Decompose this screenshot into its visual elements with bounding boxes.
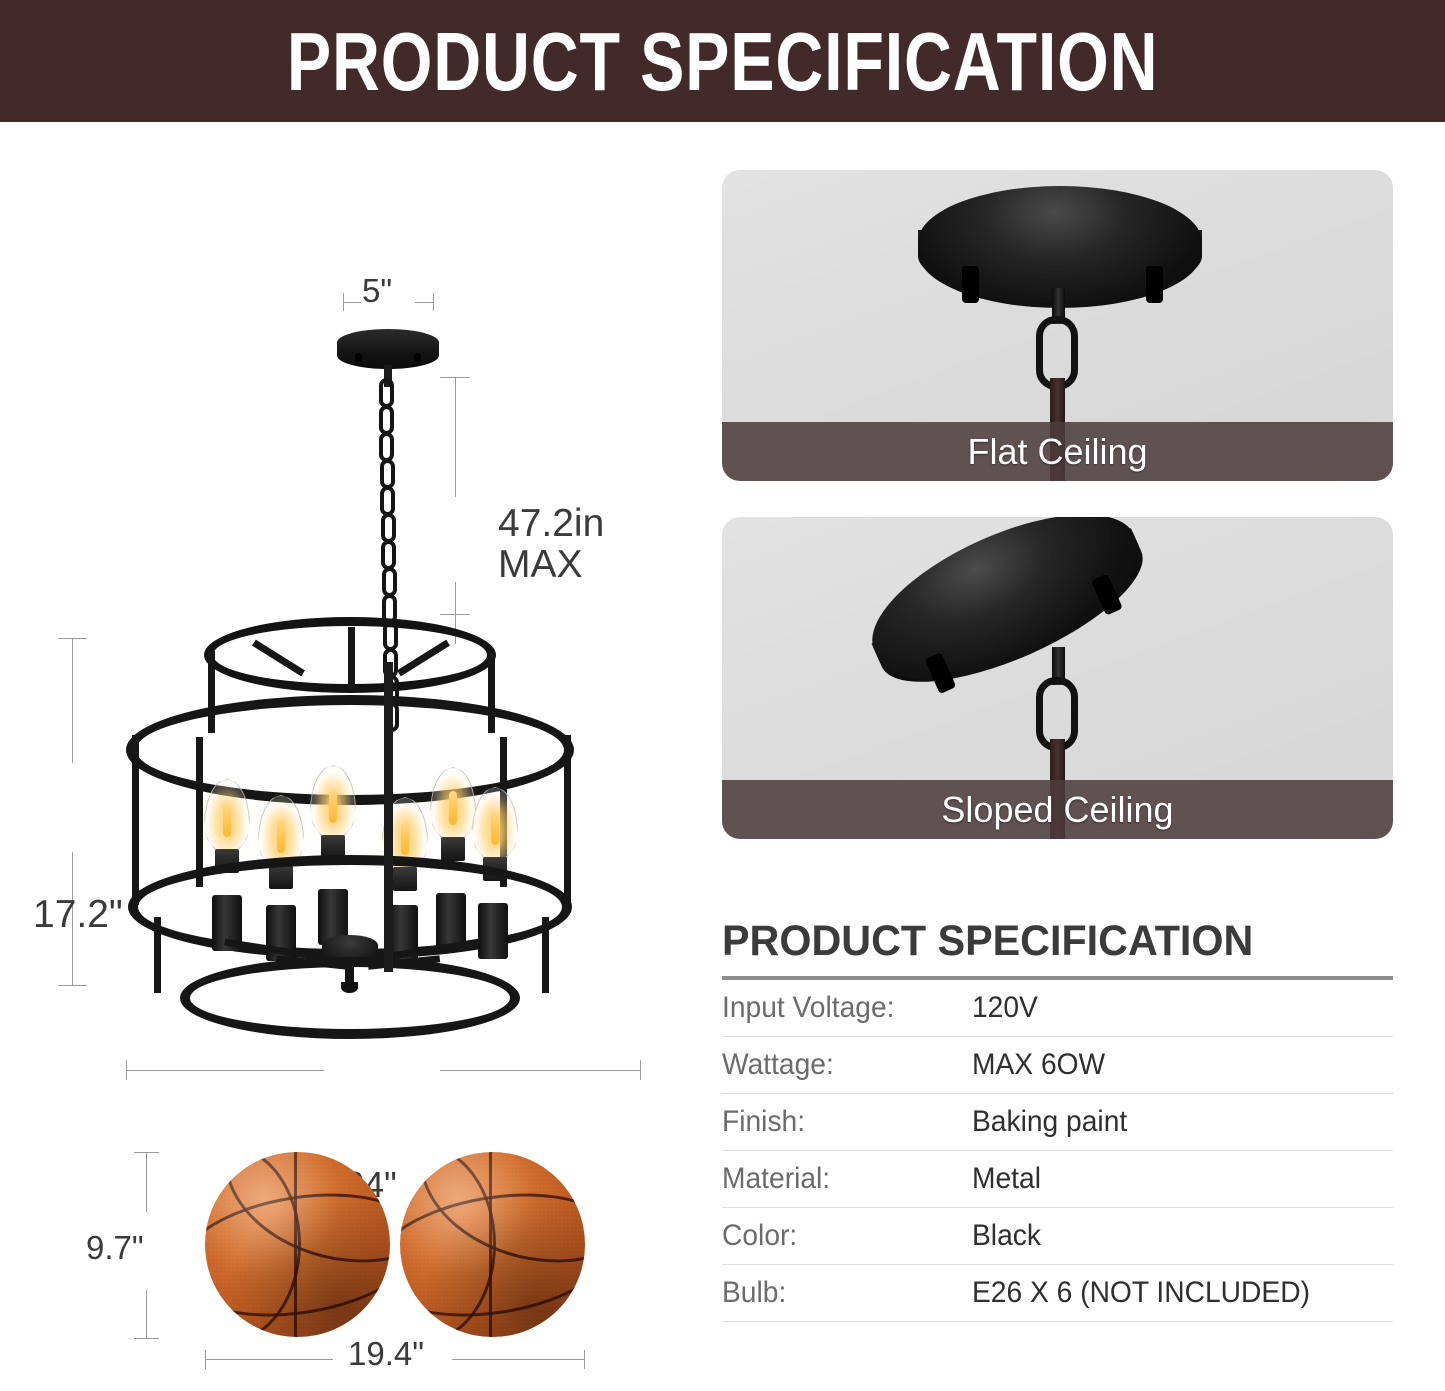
table-row: Color: Black (722, 1208, 1393, 1265)
dimension-max-drop-line1: 47.2in (498, 504, 604, 545)
dimension-ball-pair-width-label: 19.4" (348, 1337, 424, 1372)
ceiling-canopy (337, 329, 439, 369)
panel-label-sloped: Sloped Ceiling (941, 789, 1173, 831)
bulb-socket (478, 903, 508, 959)
panel-flat-ceiling: Flat Ceiling (722, 170, 1393, 481)
spec-value: Baking paint (972, 1105, 1127, 1139)
table-row: Finish: Baking paint (722, 1094, 1393, 1151)
canopy-screw-hole (962, 266, 979, 303)
canopy-tilt-group-sloped (844, 517, 1204, 795)
dimension-ball-height-label: 9.7" (86, 1231, 144, 1266)
center-support-rod (384, 662, 393, 972)
table-row: Wattage: MAX 6OW (722, 1037, 1393, 1094)
spec-value: E26 X 6 (NOT INCLUDED) (972, 1276, 1310, 1310)
panel-label-bar-sloped: Sloped Ceiling (722, 780, 1393, 839)
table-row: Bulb: E26 X 6 (NOT INCLUDED) (722, 1265, 1393, 1322)
page-title: PRODUCT SPECIFICATION (287, 20, 1158, 103)
spec-key: Bulb: (722, 1276, 957, 1310)
spec-key: Color: (722, 1219, 957, 1253)
spec-table: PRODUCT SPECIFICATION Input Voltage: 120… (722, 917, 1393, 1322)
spec-value: Metal (972, 1162, 1041, 1196)
spec-table-title: PRODUCT SPECIFICATION (722, 917, 1366, 966)
page-header-banner: PRODUCT SPECIFICATION (0, 0, 1445, 122)
panel-sloped-ceiling: Sloped Ceiling (722, 517, 1393, 839)
edison-bulb (310, 765, 356, 861)
ceiling-mount-panels: Flat Ceiling Sloped Ceiling (722, 170, 1393, 839)
panel-label-flat: Flat Ceiling (967, 431, 1147, 473)
edison-bulb (430, 767, 476, 863)
spec-value: Black (972, 1219, 1041, 1253)
basketball (205, 1152, 390, 1337)
spec-key: Wattage: (722, 1048, 957, 1082)
chandelier-fixture (100, 617, 600, 1007)
basketball (400, 1152, 585, 1337)
dimension-max-drop-label: 47.2in MAX (498, 504, 604, 586)
spec-key: Finish: (722, 1105, 957, 1139)
table-row: Input Voltage: 120V (722, 980, 1393, 1037)
dimension-canopy-width-label: 5" (362, 274, 392, 309)
panel-label-bar-flat: Flat Ceiling (722, 422, 1393, 481)
cage-ring-bottom (180, 957, 520, 1039)
spec-value: 120V (972, 991, 1038, 1025)
table-row: Material: Metal (722, 1151, 1393, 1208)
canopy-screw-hole (1146, 266, 1163, 303)
spec-key: Material: (722, 1162, 957, 1196)
spec-key: Input Voltage: (722, 991, 957, 1025)
dimension-max-drop-line2: MAX (498, 545, 604, 586)
spec-value: MAX 6OW (972, 1048, 1105, 1082)
